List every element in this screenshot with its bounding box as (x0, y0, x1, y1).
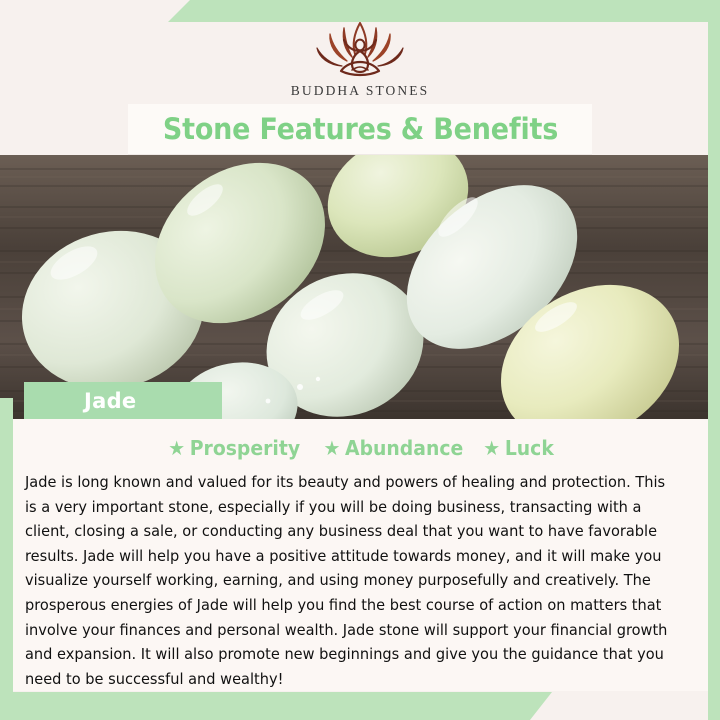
star-icon: ★ (484, 438, 501, 458)
benefit-label: Abundance (345, 436, 463, 460)
benefit-label: Luck (505, 436, 554, 460)
brand-logo: BUDDHA STONES (0, 18, 720, 108)
stone-description: Jade is long known and valued for its be… (25, 470, 679, 691)
star-icon: ★ (169, 438, 186, 458)
title-banner: Stone Features & Benefits (128, 104, 592, 154)
stone-name-label: Jade (84, 389, 136, 413)
benefit-item-prosperity: ★ Prosperity (169, 436, 301, 460)
benefit-item-luck: ★ Luck (484, 436, 555, 460)
page-title: Stone Features & Benefits (162, 112, 557, 146)
benefits-row: ★ Prosperity ★ Abundance ★ Luck (13, 430, 708, 466)
product-info-card: BUDDHA STONES Stone Features & Benefits (0, 0, 720, 720)
product-photo (0, 155, 708, 420)
decorative-right-band (708, 0, 720, 720)
star-icon: ★ (323, 438, 340, 458)
decorative-left-band (0, 398, 13, 720)
benefit-label: Prosperity (190, 436, 300, 460)
brand-wordmark: BUDDHA STONES (291, 83, 429, 99)
lotus-meditation-icon (297, 18, 423, 80)
benefit-item-abundance: ★ Abundance (323, 436, 463, 460)
jade-stones-image (0, 155, 708, 420)
decorative-bottom-band (0, 692, 720, 720)
description-panel: ★ Prosperity ★ Abundance ★ Luck Jade is … (13, 419, 708, 691)
stone-name-badge: Jade (24, 382, 222, 419)
